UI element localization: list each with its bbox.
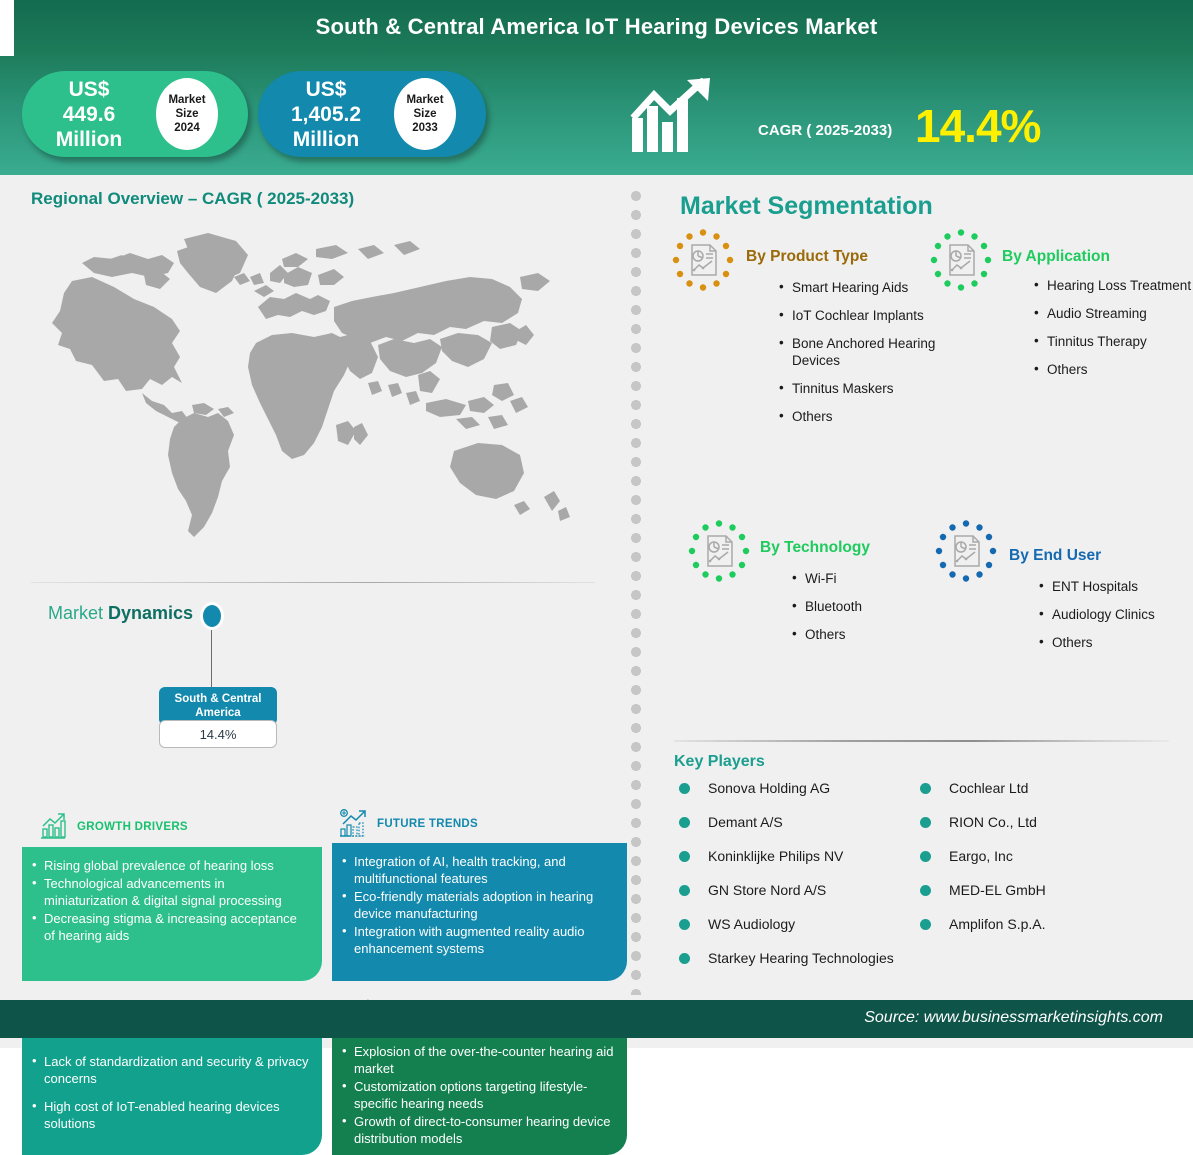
- list-item: Tinnitus Therapy: [1032, 333, 1193, 350]
- segment-name: By Technology: [760, 539, 870, 557]
- list-item: WS Audiology: [674, 915, 904, 933]
- growth-drivers-list: Rising global prevalence of hearing loss…: [32, 857, 310, 944]
- growth-chart-arrow-icon: [630, 78, 720, 156]
- infographic-page: South & Central America IoT Hearing Devi…: [0, 0, 1193, 1048]
- region-map-marker[interactable]: [200, 602, 224, 630]
- list-item: Sonova Holding AG: [674, 779, 904, 797]
- unit-label: Million: [258, 127, 394, 152]
- currency-label: US$: [22, 77, 156, 102]
- list-item: Rising global prevalence of hearing loss: [32, 857, 310, 874]
- unit-label: Million: [22, 127, 156, 152]
- vertical-dotted-divider: [631, 190, 641, 995]
- footer-bar: Source: www.businessmarketinsights.com: [0, 1000, 1193, 1038]
- bar-chart-growth-icon: [38, 812, 68, 842]
- value-label: 1,405.2: [258, 102, 394, 127]
- key-players-column-1: Sonova Holding AG Demant A/S Koninklijke…: [674, 779, 904, 983]
- source-label: Source: www.businessmarketinsights.com: [864, 1009, 1163, 1027]
- list-item: Decreasing stigma & increasing acceptanc…: [32, 910, 310, 944]
- list-item: Integration of AI, health tracking, and …: [342, 853, 615, 887]
- list-item: Bluetooth: [790, 598, 965, 615]
- badge-line-3: 2024: [174, 121, 200, 135]
- badge-line-2: Size: [175, 107, 198, 121]
- future-trends-header: FUTURE TRENDS: [338, 808, 478, 840]
- list-item: High cost of IoT-enabled hearing devices…: [32, 1098, 310, 1132]
- badge-line-1: Market: [406, 93, 443, 107]
- market-size-2033-pill: US$ 1,405.2 Million Market Size 2033: [258, 71, 486, 157]
- segment-items: Smart Hearing Aids IoT Cochlear Implants…: [777, 279, 962, 436]
- list-item: Hearing Loss Treatment: [1032, 277, 1193, 294]
- dynamics-title-word-2: Dynamics: [108, 603, 193, 623]
- world-map: [22, 215, 602, 560]
- opportunity-list: Explosion of the over-the-counter hearin…: [342, 1043, 615, 1147]
- trend-forecast-icon: [338, 808, 368, 840]
- market-size-2024-amount: US$ 449.6 Million: [22, 77, 156, 152]
- future-trends-box: Integration of AI, health tracking, and …: [332, 843, 627, 981]
- list-item: Audio Streaming: [1032, 305, 1193, 322]
- key-players-column-2: Cochlear Ltd RION Co., Ltd Eargo, Inc ME…: [915, 779, 1155, 949]
- list-item: Amplifon S.p.A.: [915, 915, 1155, 933]
- list-item: Others: [790, 626, 965, 643]
- report-document-icon: [688, 520, 750, 582]
- page-title: South & Central America IoT Hearing Devi…: [0, 14, 1193, 40]
- market-size-2033-amount: US$ 1,405.2 Million: [258, 77, 394, 152]
- badge-line-3: 2033: [412, 121, 438, 135]
- list-item: Integration with augmented reality audio…: [342, 923, 615, 957]
- key-players-divider: [674, 740, 1169, 742]
- list-item: GN Store Nord A/S: [674, 881, 904, 899]
- value-label: 449.6: [22, 102, 156, 127]
- cagr-label: CAGR ( 2025-2033): [758, 122, 892, 139]
- segment-name: By End User: [1009, 547, 1101, 565]
- list-item: RION Co., Ltd: [915, 813, 1155, 831]
- report-document-icon: [930, 229, 992, 291]
- list-item: IoT Cochlear Implants: [777, 307, 962, 324]
- market-size-2024-badge: Market Size 2024: [156, 78, 218, 150]
- cagr-value: 14.4%: [915, 99, 1040, 153]
- restraints-box: Lack of standardization and security & p…: [22, 1037, 322, 1155]
- list-item: Others: [1037, 634, 1193, 651]
- segment-name: By Product Type: [746, 248, 868, 266]
- growth-drivers-label: GROWTH DRIVERS: [77, 821, 188, 833]
- list-item: Lack of standardization and security & p…: [32, 1053, 310, 1087]
- market-dynamics-title: Market Dynamics: [48, 603, 193, 624]
- badge-line-1: Market: [168, 93, 205, 107]
- list-item: Others: [777, 408, 962, 425]
- header-banner: South & Central America IoT Hearing Devi…: [0, 0, 1193, 175]
- marker-leader-line: [211, 630, 212, 688]
- currency-label: US$: [258, 77, 394, 102]
- segment-items: Wi-Fi Bluetooth Others: [790, 570, 965, 654]
- list-item: Audiology Clinics: [1037, 606, 1193, 623]
- future-trends-list: Integration of AI, health tracking, and …: [342, 853, 615, 957]
- dynamics-title-word-1: Market: [48, 603, 108, 623]
- segment-items: ENT Hospitals Audiology Clinics Others: [1037, 578, 1193, 662]
- restraints-list: Lack of standardization and security & p…: [32, 1053, 310, 1132]
- region-callout-cagr: 14.4%: [159, 720, 277, 748]
- list-item: Eco-friendly materials adoption in heari…: [342, 888, 615, 922]
- market-size-2024-pill: US$ 449.6 Million Market Size 2024: [22, 71, 248, 157]
- list-item: Cochlear Ltd: [915, 779, 1155, 797]
- list-item: Koninklijke Philips NV: [674, 847, 904, 865]
- list-item: MED-EL GmbH: [915, 881, 1155, 899]
- report-document-icon: [672, 229, 734, 291]
- opportunity-box: Explosion of the over-the-counter hearin…: [332, 1033, 627, 1155]
- badge-line-2: Size: [413, 107, 436, 121]
- list-item: Customization options targeting lifestyl…: [342, 1078, 615, 1112]
- list-item: Bone Anchored Hearing Devices: [777, 335, 962, 369]
- list-item: Demant A/S: [674, 813, 904, 831]
- segment-name: By Application: [1002, 248, 1110, 266]
- left-panel: Regional Overview – CAGR ( 2025-2033): [0, 175, 625, 995]
- segment-items: Hearing Loss Treatment Audio Streaming T…: [1032, 277, 1193, 389]
- world-map-svg: [22, 215, 602, 560]
- right-panel: Market Segmentation: [650, 175, 1193, 995]
- list-item: Others: [1032, 361, 1193, 378]
- market-segmentation-title: Market Segmentation: [680, 192, 933, 221]
- list-item: ENT Hospitals: [1037, 578, 1193, 595]
- growth-drivers-box: Rising global prevalence of hearing loss…: [22, 847, 322, 981]
- growth-drivers-header: GROWTH DRIVERS: [38, 812, 188, 842]
- future-trends-label: FUTURE TRENDS: [377, 818, 478, 830]
- list-item: Eargo, Inc: [915, 847, 1155, 865]
- list-item: Growth of direct-to-consumer hearing dev…: [342, 1113, 615, 1147]
- list-item: Technological advancements in miniaturiz…: [32, 875, 310, 909]
- regional-overview-title: Regional Overview – CAGR ( 2025-2033): [31, 189, 354, 209]
- report-document-icon: [935, 520, 997, 582]
- list-item: Starkey Hearing Technologies: [674, 949, 904, 967]
- region-callout: South & Central America 14.4%: [159, 687, 277, 748]
- list-item: Explosion of the over-the-counter hearin…: [342, 1043, 615, 1077]
- list-item: Tinnitus Maskers: [777, 380, 962, 397]
- key-players-title: Key Players: [674, 753, 765, 771]
- market-size-2033-badge: Market Size 2033: [394, 78, 456, 150]
- section-divider: [31, 582, 595, 583]
